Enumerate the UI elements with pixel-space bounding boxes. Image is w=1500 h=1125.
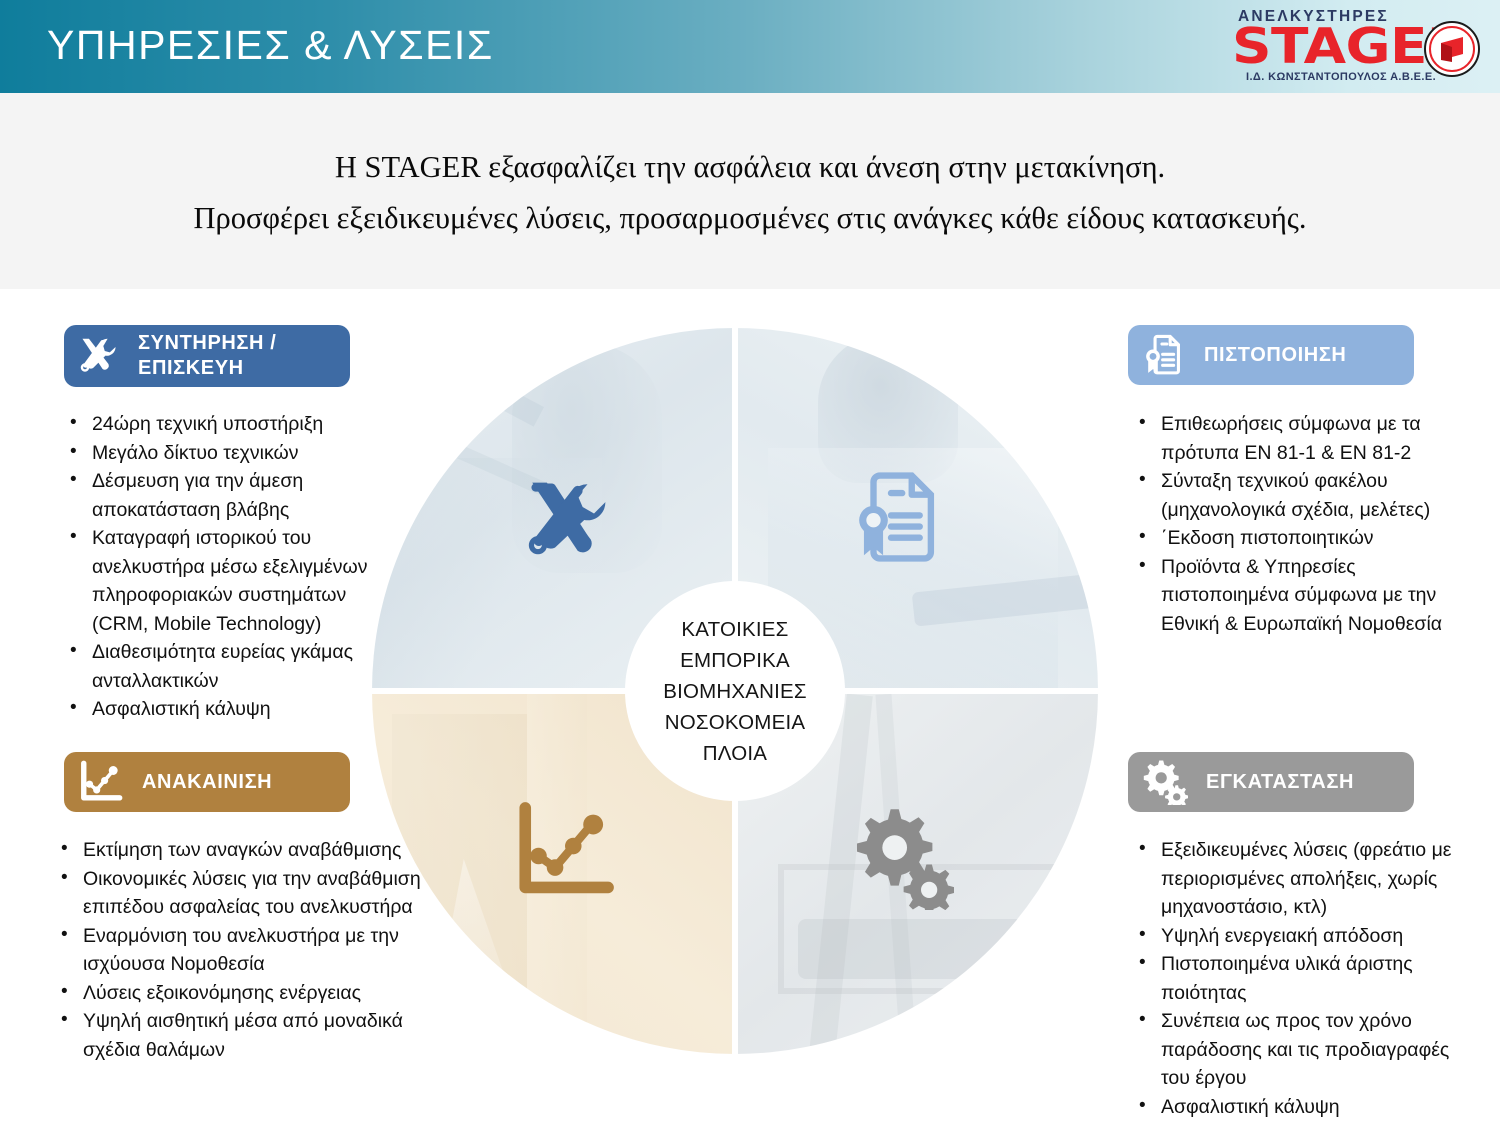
subtitle-line-1: Η STAGER εξασφαλίζει την ασφάλεια και άν… xyxy=(0,142,1500,193)
list-item: Εξειδικευμένες λύσεις (φρεάτιο με περιορ… xyxy=(1133,836,1473,922)
center-line-2: ΕΜΠΟΡΙΚΑ xyxy=(680,645,790,676)
badge-certification[interactable]: ΠΙΣΤΟΠΟΙΗΣΗ xyxy=(1128,325,1414,385)
list-item: Υψηλή αισθητική μέσα από μοναδικά σχέδια… xyxy=(55,1007,425,1064)
company-logo: ΑΝΕΛΚΥΣΤΗΡΕΣ STAGER Ι.Δ. ΚΩΝΣΤΑΝΤΟΠΟΥΛΟΣ… xyxy=(1232,6,1482,88)
list-item: Δέσμευση για την άμεση αποκατάσταση βλάβ… xyxy=(64,467,386,524)
list-item: Πιστοποιημένα υλικά άριστης ποιότητας xyxy=(1133,950,1473,1007)
center-line-4: ΝΟΣΟΚΟΜΕΙΑ xyxy=(665,707,805,738)
badge-certification-label: ΠΙΣΤΟΠΟΙΗΣΗ xyxy=(1186,343,1346,368)
center-line-3: ΒΙΟΜΗΧΑΝΙΕΣ xyxy=(663,676,807,707)
list-item: Συνέπεια ως προς τον χρόνο παράδοσης και… xyxy=(1133,1007,1473,1093)
list-item: Καταγραφή ιστορικού του ανελκυστήρα μέσω… xyxy=(64,524,386,638)
badge-installation[interactable]: ΕΓΚΑΤΑΣΤΑΣΗ xyxy=(1128,752,1414,812)
wrench-screwdriver-icon xyxy=(516,468,620,577)
page-title: ΥΠΗΡΕΣΙΕΣ & ΛΥΣΕΙΣ xyxy=(47,22,494,69)
list-item: Εκτίμηση των αναγκών αναβάθμισης xyxy=(55,836,425,865)
list-item: Ασφαλιστική κάλυψη xyxy=(64,695,386,724)
bullets-renovation: Εκτίμηση των αναγκών αναβάθμισης Οικονομ… xyxy=(55,836,425,1064)
list-item: Διαθεσιμότητα ευρείας γκάμας ανταλλακτικ… xyxy=(64,638,386,695)
gears-icon xyxy=(850,806,954,915)
badge-maintenance-label: ΣΥΝΤΗΡΗΣΗ / ΕΠΙΣΚΕΥΗ xyxy=(122,331,350,381)
bullets-maintenance: 24ώρη τεχνική υποστήριξη Μεγάλο δίκτυο τ… xyxy=(64,410,386,724)
stager-emblem-glyph xyxy=(1439,36,1465,62)
center-line-1: ΚΑΤΟΙΚΙΕΣ xyxy=(681,614,788,645)
badge-renovation-label: ΑΝΑΚΑΙΝΙΣΗ xyxy=(124,770,272,795)
badge-maintenance[interactable]: ΣΥΝΤΗΡΗΣΗ / ΕΠΙΣΚΕΥΗ xyxy=(64,325,350,387)
badge-renovation[interactable]: ΑΝΑΚΑΙΝΙΣΗ xyxy=(64,752,350,812)
certificate-document-icon xyxy=(848,466,950,573)
list-item: Υψηλή ενεργειακή απόδοση xyxy=(1133,922,1473,951)
list-item: Σύνταξη τεχνικού φακέλου (μηχανολογικά σ… xyxy=(1133,467,1453,524)
list-item: Μεγάλο δίκτυο τεχνικών xyxy=(64,439,386,468)
wrench-screwdriver-icon xyxy=(76,333,122,379)
page-header: ΥΠΗΡΕΣΙΕΣ & ΛΥΣΕΙΣ ΑΝΕΛΚΥΣΤΗΡΕΣ STAGER Ι… xyxy=(0,0,1500,93)
bullets-installation: Εξειδικευμένες λύσεις (φρεάτιο με περιορ… xyxy=(1133,836,1473,1121)
badge-installation-label: ΕΓΚΑΤΑΣΤΑΣΗ xyxy=(1188,770,1354,795)
certificate-document-icon xyxy=(1142,333,1186,377)
gears-icon xyxy=(1142,759,1188,805)
list-item: Εναρμόνιση του ανελκυστήρα με την ισχύου… xyxy=(55,922,425,979)
list-item: Προϊόντα & Υπηρεσίες πιστοποιημένα σύμφω… xyxy=(1133,553,1453,639)
services-wheel: ΚΑΤΟΙΚΙΕΣ ΕΜΠΟΡΙΚΑ ΒΙΟΜΗΧΑΝΙΕΣ ΝΟΣΟΚΟΜΕΙ… xyxy=(372,328,1098,1054)
list-item: ΄Εκδοση πιστοποιητικών xyxy=(1133,524,1453,553)
stager-emblem-icon xyxy=(1424,21,1480,77)
list-item: Οικονομικές λύσεις για την αναβάθμιση επ… xyxy=(55,865,425,922)
logo-subtitle-text: Ι.Δ. ΚΩΝΣΤΑΝΤΟΠΟΥΛΟΣ Α.Β.Ε.Ε. xyxy=(1246,71,1436,83)
line-chart-icon xyxy=(512,801,618,906)
subtitle-line-2: Προσφέρει εξειδικευμένες λύσεις, προσαρμ… xyxy=(0,193,1500,244)
list-item: Λύσεις εξοικονόμησης ενέργειας xyxy=(55,979,425,1008)
list-item: Επιθεωρήσεις σύμφωνα με τα πρότυπα ΕΝ 81… xyxy=(1133,410,1453,467)
bullets-certification: Επιθεωρήσεις σύμφωνα με τα πρότυπα ΕΝ 81… xyxy=(1133,410,1453,638)
list-item: Ασφαλιστική κάλυψη xyxy=(1133,1093,1473,1122)
subtitle-band: Η STAGER εξασφαλίζει την ασφάλεια και άν… xyxy=(0,93,1500,289)
line-chart-icon xyxy=(78,760,124,804)
subtitle-text: Η STAGER εξασφαλίζει την ασφάλεια και άν… xyxy=(0,142,1500,244)
list-item: 24ώρη τεχνική υποστήριξη xyxy=(64,410,386,439)
center-line-5: ΠΛΟΙΑ xyxy=(703,738,767,769)
wheel-center-label: ΚΑΤΟΙΚΙΕΣ ΕΜΠΟΡΙΚΑ ΒΙΟΜΗΧΑΝΙΕΣ ΝΟΣΟΚΟΜΕΙ… xyxy=(625,581,845,801)
